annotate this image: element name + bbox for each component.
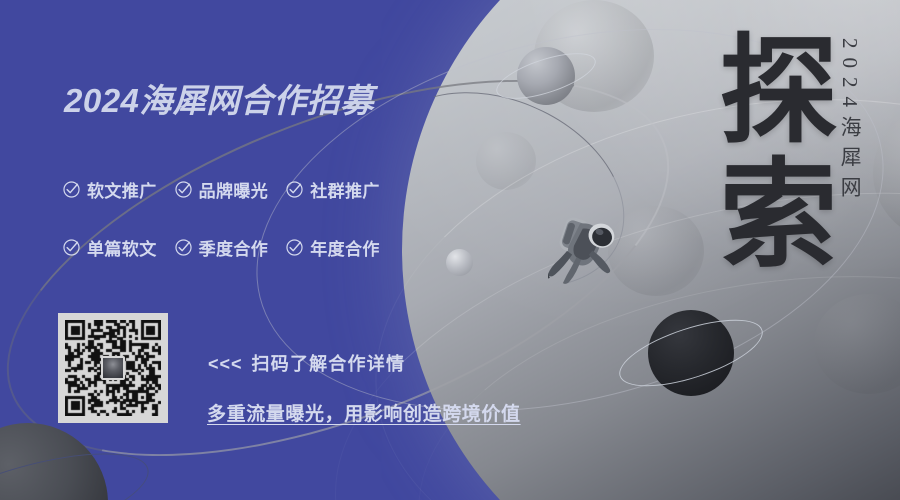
feature-item[interactable]: 年度合作 [285, 235, 380, 260]
scan-hint: <<<扫码了解合作详情 [208, 350, 405, 376]
feature-label: 单篇软文 [87, 235, 157, 260]
astronaut-icon [548, 205, 626, 297]
feature-item[interactable]: 品牌曝光 [174, 177, 269, 202]
check-circle-icon [62, 180, 81, 199]
feature-item[interactable]: 软文推广 [62, 177, 157, 202]
feature-label: 社群推广 [310, 177, 380, 202]
tagline: 多重流量曝光，用影响创造跨境价值 [207, 399, 521, 426]
feature-label: 品牌曝光 [199, 177, 269, 202]
check-circle-icon [174, 180, 193, 199]
vertical-brand-subtitle: 2024海犀网 [832, 38, 868, 318]
qr-center-avatar [101, 356, 125, 380]
check-circle-icon [285, 180, 304, 199]
feature-label: 季度合作 [199, 235, 269, 260]
feature-row-1: 软文推广 品牌曝光 社群推广 [62, 177, 380, 202]
dark-ringed-planet-icon [648, 310, 734, 396]
orbit-sphere-icon [446, 249, 473, 276]
check-circle-icon [285, 238, 304, 257]
qr-code-icon[interactable] [58, 313, 168, 423]
feature-item[interactable]: 季度合作 [174, 235, 269, 260]
feature-item[interactable]: 单篇软文 [62, 235, 157, 260]
feature-item[interactable]: 社群推广 [285, 177, 380, 202]
scan-hint-label: 扫码了解合作详情 [252, 354, 406, 374]
page-title: 2024海犀网合作招募 [64, 74, 374, 122]
ringed-planet-icon [517, 47, 575, 105]
promo-banner: 2024海犀网合作招募 软文推广 品牌曝光 社群推广 [0, 0, 900, 500]
feature-label: 软文推广 [87, 177, 157, 202]
feature-label: 年度合作 [310, 235, 380, 260]
feature-row-2: 单篇软文 季度合作 年度合作 [62, 235, 380, 260]
check-circle-icon [62, 238, 81, 257]
vertical-brand-title: 探索 [697, 28, 827, 276]
check-circle-icon [174, 238, 193, 257]
left-arrows-icon: <<< [208, 354, 243, 374]
